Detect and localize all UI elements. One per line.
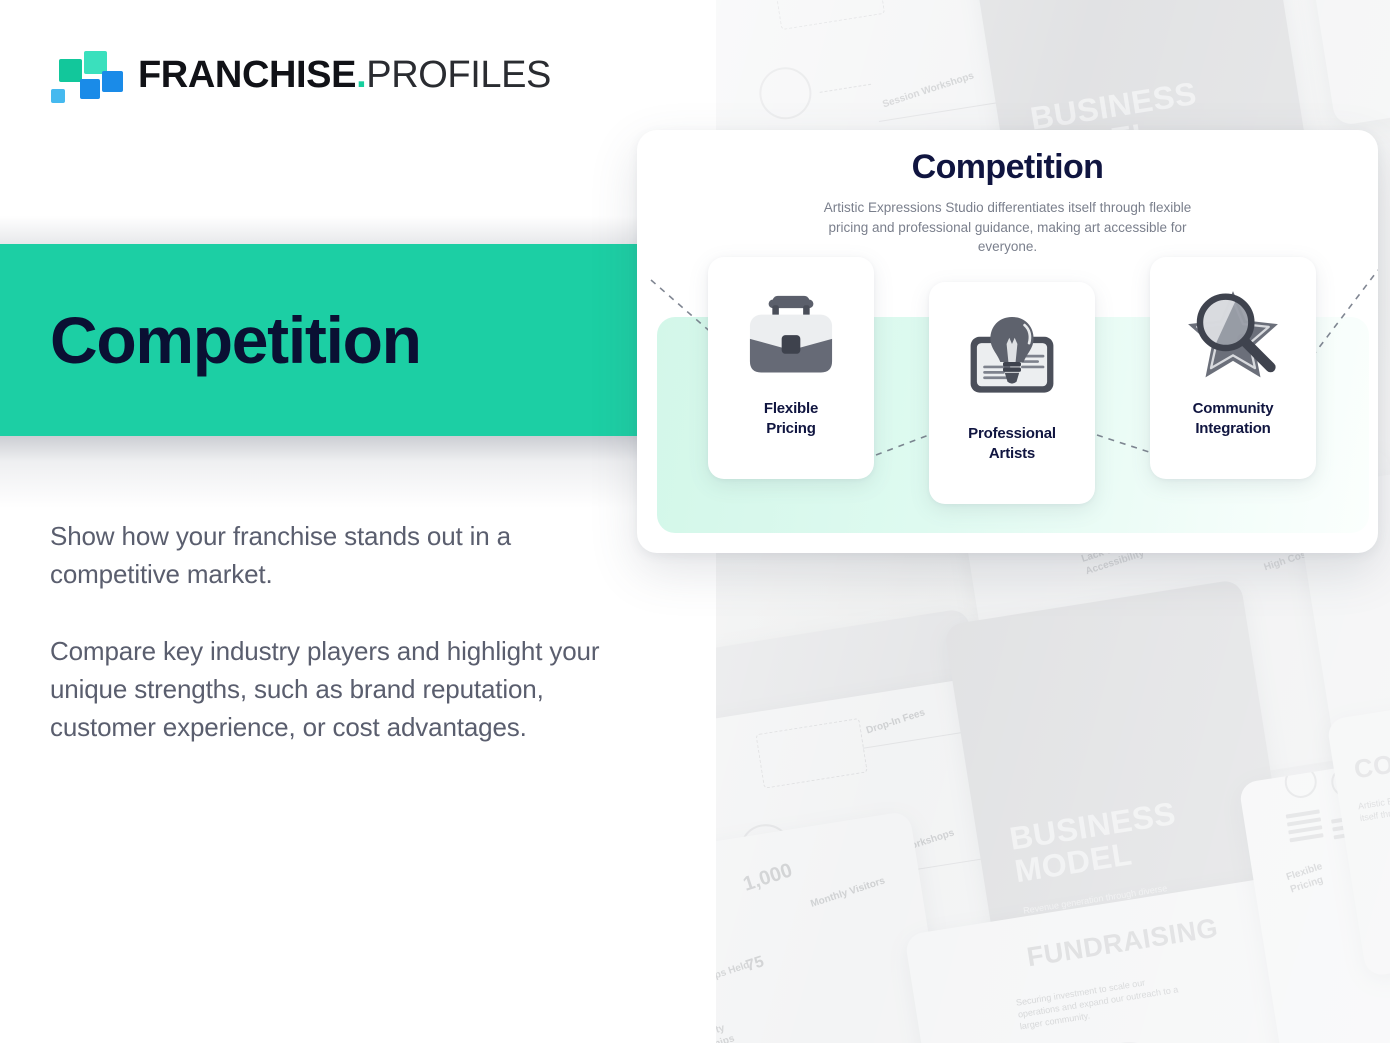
feature-tile-label: Community Integration xyxy=(1193,399,1274,438)
feature-tile-professional-artists[interactable]: Professional Artists xyxy=(929,282,1095,504)
banner-shadow-bottom xyxy=(0,436,637,508)
bg-slide-title: FUNDRAISING xyxy=(1025,914,1220,971)
bg-slide-subtitle: Securing investment to scale our operati… xyxy=(1015,970,1194,1033)
feature-tile-label: Flexible Pricing xyxy=(764,399,818,438)
feature-tile-label: Professional Artists xyxy=(968,424,1056,463)
bg-label: Session Workshops xyxy=(881,70,976,111)
bg-slide-competition-mini: Flexible Pricing Professional Artists Co… xyxy=(1238,740,1390,1043)
bg-slide-subtitle: Revenue generation through diverse strea… xyxy=(1022,881,1176,940)
body-paragraph-2: Compare key industry players and highlig… xyxy=(50,633,626,746)
body-paragraph-1: Show how your franchise stands out in a … xyxy=(50,518,626,593)
brand-name-dot: . xyxy=(356,54,366,96)
bg-label: Flexible Pricing xyxy=(1285,861,1328,896)
bg-label: Limited Resources xyxy=(1086,665,1142,705)
brand-wordmark: FRANCHISE.PROFILES xyxy=(138,56,551,94)
bg-label: 75 xyxy=(744,952,767,977)
star-magnifier-icon xyxy=(1175,279,1291,395)
logo-squares-icon xyxy=(48,49,106,101)
slide-canvas: Drop-In Fees Session Workshops Commissio… xyxy=(0,0,1390,1043)
bg-slide-traction: 1,000 Monthly Visitors 75 Workshops Held… xyxy=(715,811,956,1043)
page-title: Competition xyxy=(50,307,421,373)
feature-tile-flexible-pricing[interactable]: Flexible Pricing xyxy=(708,257,874,479)
preview-card-title: Competition xyxy=(637,148,1378,187)
bg-label: Session Workshops xyxy=(862,827,957,868)
feature-tile-community-integration[interactable]: Community Integration xyxy=(1150,257,1316,479)
bg-slide-mid-dark xyxy=(715,608,1000,862)
bg-label: Community Partnerships xyxy=(715,1021,736,1043)
bg-slide-title: COM xyxy=(1352,747,1390,783)
bg-slide-subtitle: Artistic Expressions differentiates itse… xyxy=(1357,777,1390,824)
bg-label: 1,000 xyxy=(740,858,795,897)
lightbulb-board-icon xyxy=(954,304,1070,420)
preview-card-subtitle: Artistic Expressions Studio differentiat… xyxy=(808,198,1208,257)
bg-label: Drop-In Fees xyxy=(865,707,927,738)
bg-slide-top-right xyxy=(1297,0,1390,126)
banner-shadow-top xyxy=(0,216,637,244)
brand-logo[interactable]: FRANCHISE.PROFILES xyxy=(48,44,551,106)
bg-slide-business-model-bottom: BUSINESS MODEL Revenue generation throug… xyxy=(944,579,1297,981)
bg-slide-revenue-bottom: Drop-In Fees Session Workshops Commissio… xyxy=(715,668,1088,1043)
brand-name-bold: FRANCHISE xyxy=(138,54,356,96)
bg-slide-com-partial: COM Artistic Expressions differentiates … xyxy=(1326,683,1390,977)
body-copy: Show how your franchise stands out in a … xyxy=(50,518,626,746)
bg-slide-title: BUSINESS MODEL xyxy=(1007,797,1183,888)
brand-name-thin: PROFILES xyxy=(366,54,551,96)
section-title-banner: Competition xyxy=(0,244,637,436)
slide-preview-card[interactable]: Competition Artistic Expressions Studio … xyxy=(637,130,1378,553)
bg-slide-fundraising: FUNDRAISING Securing investment to scale… xyxy=(904,868,1376,1043)
bg-label: Workshops Held xyxy=(715,960,752,996)
left-content-panel: FRANCHISE.PROFILES Competition Show how … xyxy=(0,0,716,1043)
briefcase-icon xyxy=(733,279,849,395)
bg-label: Commissioned Art Sales xyxy=(776,949,892,997)
bg-label: Monthly Visitors xyxy=(809,875,887,911)
